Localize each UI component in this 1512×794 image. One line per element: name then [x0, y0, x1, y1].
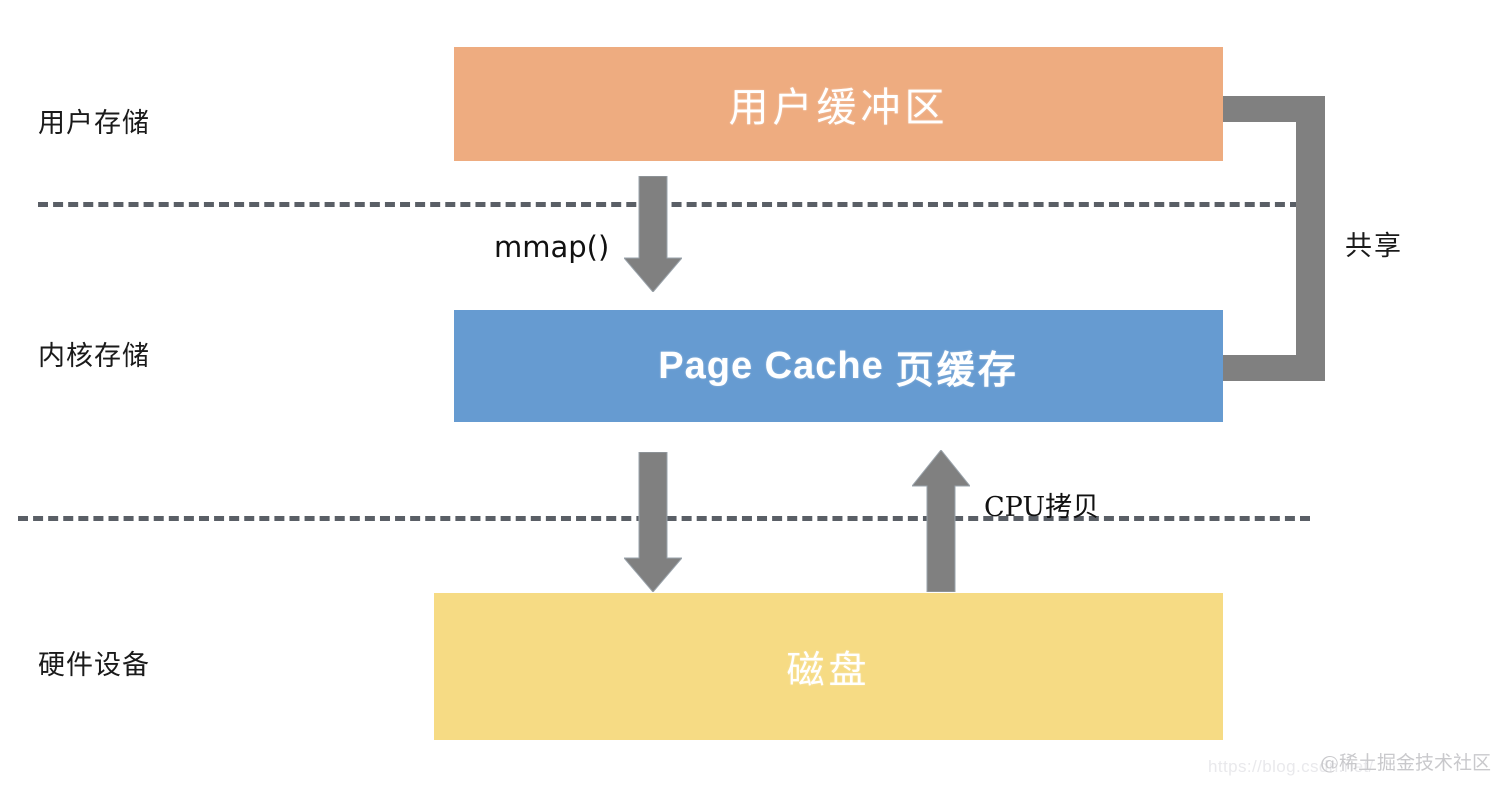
connector-shared-label: 共享: [1345, 224, 1403, 263]
arrow-up-cpu-copy-icon: [912, 450, 970, 592]
arrow-caption-cpu-copy: CPU拷贝: [984, 485, 1099, 524]
block-page-cache: Page Cache 页缓存: [454, 310, 1223, 422]
diagram-canvas: 用户存储 内核存储 硬件设备 用户缓冲区 Page Cache 页缓存 磁盘 m…: [0, 0, 1512, 794]
block-page-cache-label-en: Page Cache: [658, 345, 883, 388]
block-disk: 磁盘: [434, 593, 1223, 740]
connector-shared-bracket: [1223, 96, 1325, 381]
block-disk-label: 磁盘: [786, 639, 870, 694]
tier-label-kernel: 内核存储: [38, 334, 150, 373]
connector-vertical-arm: [1296, 96, 1325, 381]
tier-label-user: 用户存储: [38, 101, 150, 140]
tier-label-hardware: 硬件设备: [38, 643, 150, 682]
connector-bottom-arm: [1223, 355, 1325, 381]
block-page-cache-label-cn: 页缓存: [896, 339, 1019, 394]
arrow-caption-mmap: mmap(): [494, 230, 609, 264]
block-user-buffer-label: 用户缓冲区: [729, 75, 949, 133]
arrow-down-mmap-icon: [624, 176, 682, 292]
arrow-down-writeback-icon: [624, 452, 682, 592]
block-user-buffer: 用户缓冲区: [454, 47, 1223, 161]
watermark-brand: @稀土掘金技术社区: [1320, 748, 1491, 775]
